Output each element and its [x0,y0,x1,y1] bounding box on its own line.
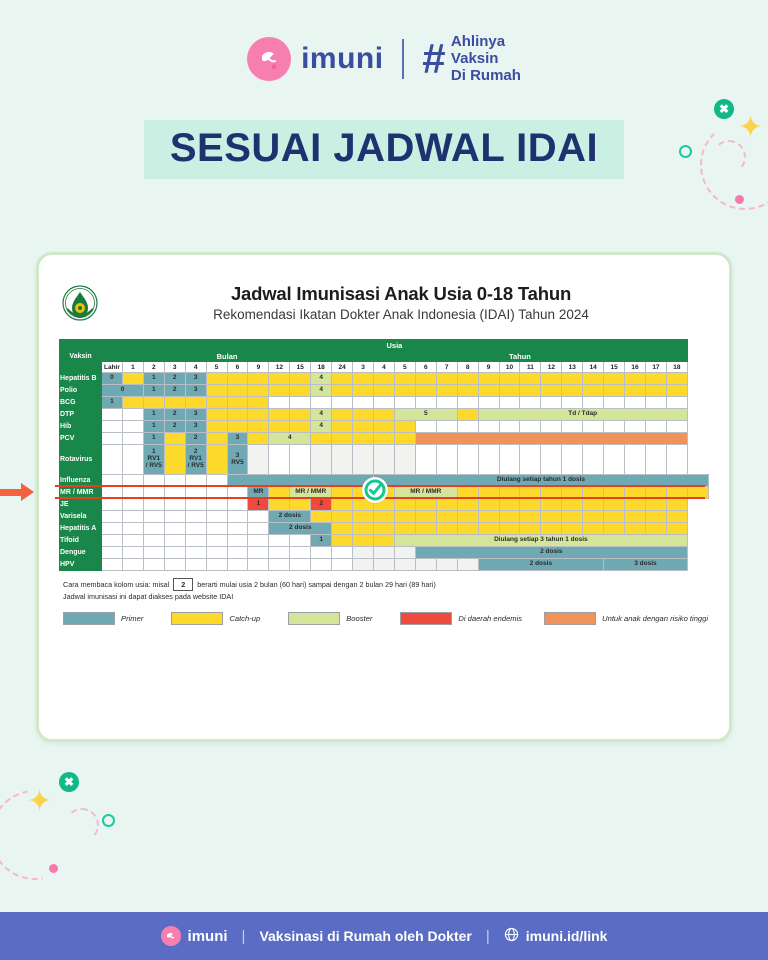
cell [520,499,541,511]
col-header-6: 6 [227,362,248,373]
cell [164,523,185,535]
cell [248,511,269,523]
legend-label: Booster [346,614,372,623]
cell [290,373,311,385]
cell [102,535,123,547]
col-header-13: 13 [562,362,583,373]
cell [645,523,666,535]
col-header-8: 8 [457,362,478,373]
cell [394,445,415,475]
cell: 2 dosis [269,511,311,523]
decor-x-circle-top: ✖ [714,99,734,119]
cell [457,499,478,511]
cell [645,499,666,511]
cell [562,373,583,385]
cell [604,397,625,409]
cell [394,559,415,571]
cell [625,397,646,409]
cell: 0 [102,385,144,397]
cell [415,421,436,433]
cell: 3 dosis [604,559,688,571]
note-line-1: Cara membaca kolom usia: misal 2 berarti… [63,578,713,591]
cell [332,445,353,475]
cell [625,511,646,523]
hashtag-icon: # [422,40,445,78]
cell [394,499,415,511]
footer-text: Vaksinasi di Rumah oleh Dokter [259,928,471,944]
cell [436,559,457,571]
decor-sparkle-bottom: ✦ [27,787,52,817]
cell: 1 [143,373,164,385]
table-row: Rotavirus1RV1/ RV52RV1/ RV53RV5 [60,445,709,475]
cell [290,535,311,547]
schedule-title: Jadwal Imunisasi Anak Usia 0-18 Tahun [89,283,713,305]
cell [122,409,143,421]
cell: Diulang setiap 3 tahun 1 dosis [394,535,687,547]
cell [478,397,499,409]
col-header-24: 24 [332,362,353,373]
cell [457,385,478,397]
cell [332,547,353,559]
table-notes: Cara membaca kolom usia: misal 2 berarti… [63,578,713,602]
cell: Td / Tdap [478,409,687,421]
table-row: HPV2 dosis3 dosis [60,559,709,571]
cell: 2 [164,409,185,421]
cell [185,535,206,547]
cell [457,373,478,385]
legend-label: Di daerah endemis [458,614,522,623]
col-header-5: 5 [206,362,227,373]
cell [666,511,687,523]
table-header-row-period: BulanTahun [60,351,709,362]
table-row: Hepatitis A2 dosis [60,523,709,535]
cell [206,445,227,475]
green-check-badge [362,477,388,503]
cell [625,373,646,385]
table-header-row-cols: Lahir12345691215182434567891011121314151… [60,362,709,373]
cell [311,511,332,523]
cell [227,373,248,385]
cell [583,499,604,511]
table-row: Dengue2 dosis [60,547,709,559]
cell [457,523,478,535]
cell [290,445,311,475]
cell [227,421,248,433]
cell [353,397,374,409]
cell [185,559,206,571]
cell [332,511,353,523]
cell [185,511,206,523]
cell [353,421,374,433]
cell [122,511,143,523]
cell [269,409,290,421]
col-header-17: 17 [645,362,666,373]
legend-swatch [400,612,452,625]
cell: 2 [164,385,185,397]
vaccine-label-pcv: PCV [60,433,102,445]
schedule-table-wrap: VaksinUsiaBulanTahunLahir123456912151824… [55,339,713,571]
vaccine-label-polio: Polio [60,385,102,397]
cell [666,499,687,511]
cell [122,499,143,511]
cell [269,397,290,409]
footer-brand-name: imuni [188,928,228,945]
cell [122,397,143,409]
cell [248,445,269,475]
cell [269,559,290,571]
cell [227,511,248,523]
cell [541,523,562,535]
cell [436,421,457,433]
cell: 1 [143,385,164,397]
cell [122,373,143,385]
cell [541,373,562,385]
cell [143,511,164,523]
cell [353,559,374,571]
cell [373,445,394,475]
note-1-box: 2 [173,578,193,591]
cell: 3 [227,433,248,445]
cell [102,409,123,421]
legend-swatch [544,612,596,625]
cell [583,523,604,535]
vaccine-label-varisela: Varisela [60,511,102,523]
cell [373,559,394,571]
cell [645,445,666,475]
cell [102,421,123,433]
cell [666,445,687,475]
schedule-header: Jadwal Imunisasi Anak Usia 0-18 Tahun Re… [55,269,713,333]
cell [164,445,185,475]
cell [562,445,583,475]
cell [227,523,248,535]
cell [562,385,583,397]
table-row: Tifoid1Diulang setiap 3 tahun 1 dosis [60,535,709,547]
cell [415,433,687,445]
cell [541,445,562,475]
cell [373,523,394,535]
cell: 1 [311,535,332,547]
cell [394,373,415,385]
cell [206,373,227,385]
cell [311,433,332,445]
cell [666,385,687,397]
header-brandbar: imuni # Ahlinya Vaksin Di Rumah [0,0,768,84]
cell: 3 [185,421,206,433]
decor-ring-bottom [102,814,115,827]
legend-item: Di daerah endemis [400,612,522,625]
vaccine-label-tifoid: Tifoid [60,535,102,547]
col-header-7: 7 [436,362,457,373]
tagline-text: Ahlinya Vaksin Di Rumah [451,34,521,84]
cell [645,373,666,385]
cell [373,511,394,523]
cell [227,385,248,397]
cell [164,535,185,547]
cell [457,397,478,409]
cell [332,421,353,433]
cell: 1 [143,409,164,421]
cell [436,373,457,385]
decor-dot-bottom [49,864,58,873]
legend-label: Primer [121,614,143,623]
col-header-18: 18 [666,362,687,373]
cell [645,385,666,397]
col-header-16: 16 [625,362,646,373]
cell [332,523,353,535]
cell [206,535,227,547]
cell [625,523,646,535]
cell [248,385,269,397]
cell [102,445,123,475]
cell [373,433,394,445]
col-header-6: 6 [415,362,436,373]
cell [625,445,646,475]
cell [290,499,311,511]
cell [164,511,185,523]
cell [185,523,206,535]
cell: 1RV1/ RV5 [143,445,164,475]
cell [645,397,666,409]
cell [478,511,499,523]
cell [102,559,123,571]
imuni-brand: imuni [247,37,384,81]
page-title: SESUAI JADWAL IDAI [170,126,598,170]
cell [353,433,374,445]
footer-link[interactable]: imuni.id/link [504,927,608,945]
cell [604,445,625,475]
cell: 1 [102,397,123,409]
cell [206,385,227,397]
col-header-1: 1 [122,362,143,373]
legend-item: Untuk anak dengan risiko tinggi [544,612,708,625]
table-row: Hib1234 [60,421,709,433]
cell [143,499,164,511]
cell [248,523,269,535]
cell [583,421,604,433]
cell [206,547,227,559]
note-1a: Cara membaca kolom usia: misal [63,580,169,589]
cell [541,397,562,409]
cell [457,511,478,523]
cell [269,499,290,511]
cell [164,433,185,445]
decor-dashed-arc-bottom [0,772,98,897]
cell: 2 dosis [269,523,332,535]
cell [102,499,123,511]
cell [520,511,541,523]
cell [143,559,164,571]
cell [332,433,353,445]
col-header-usia: Usia [102,340,688,351]
cell [122,421,143,433]
cell [415,397,436,409]
cell [353,511,374,523]
brand-name: imuni [301,42,384,76]
cell [143,523,164,535]
vaccine-label-rotavirus: Rotavirus [60,445,102,475]
col-header-lahir: Lahir [102,362,123,373]
cell [164,397,185,409]
cell [143,397,164,409]
legend-swatch [63,612,115,625]
cell [143,535,164,547]
legend-item: Primer [63,612,143,625]
cell [373,535,394,547]
cell [290,397,311,409]
footer-brand: imuni [161,926,228,946]
cell [457,421,478,433]
cell [206,511,227,523]
decor-dashed-arc-small-bottom [65,808,99,842]
cell [625,385,646,397]
cell [604,523,625,535]
cell [666,397,687,409]
cell [353,445,374,475]
cell [562,499,583,511]
header-divider [402,39,404,79]
col-header-2: 2 [143,362,164,373]
cell [164,499,185,511]
cell [645,511,666,523]
cell [269,547,290,559]
cell [604,385,625,397]
cell: 0 [102,373,123,385]
cell [102,523,123,535]
cell [394,547,415,559]
legend-swatch [288,612,340,625]
footer-sep-1: | [242,928,246,945]
decor-x-circle-bottom: ✖ [59,772,79,792]
tagline-line-3: Di Rumah [451,68,521,85]
note-line-2: Jadwal imunisasi ini dapat diakses pada … [63,591,713,602]
cell [415,445,436,475]
cell [227,535,248,547]
schedule-subtitle: Rekomendasi Ikatan Dokter Anak Indonesia… [89,307,713,322]
table-row: Varisela2 dosis [60,511,709,523]
cell [353,547,374,559]
cell [478,373,499,385]
cell [562,511,583,523]
schedule-card: DOKTER ANAK Jadwal Imunisasi Anak Usia 0… [36,252,732,742]
cell [206,433,227,445]
header-tagline: # Ahlinya Vaksin Di Rumah [422,34,521,84]
globe-icon [504,927,519,945]
cell [353,523,374,535]
cell: 2 [185,433,206,445]
cell [122,547,143,559]
table-row: BCG1 [60,397,709,409]
cell [457,409,478,421]
bird-drop-icon [247,37,291,81]
col-header-12: 12 [269,362,290,373]
cell [227,499,248,511]
cell [311,445,332,475]
cell [290,547,311,559]
cell [583,397,604,409]
cell [415,559,436,571]
cell [206,397,227,409]
cell [499,445,520,475]
cell: 3 [185,373,206,385]
cell [666,373,687,385]
cell [373,421,394,433]
col-header-11: 11 [520,362,541,373]
cell [290,409,311,421]
cell [143,547,164,559]
cell [248,535,269,547]
cell [102,511,123,523]
cell: 2 [164,373,185,385]
cell [269,421,290,433]
cell [394,421,415,433]
cell [353,409,374,421]
table-row: PCV1234 [60,433,709,445]
footer-bird-icon [161,926,181,946]
cell [248,421,269,433]
col-header-4: 4 [185,362,206,373]
cell [248,547,269,559]
cell [604,499,625,511]
cell [206,421,227,433]
cell: 1 [143,421,164,433]
col-header-14: 14 [583,362,604,373]
cell [520,421,541,433]
cell [332,409,353,421]
cell [269,385,290,397]
table-row: Hepatitis B01234 [60,373,709,385]
vaccine-label-dtp: DTP [60,409,102,421]
vaccine-label-hpv: HPV [60,559,102,571]
cell: 3 [185,385,206,397]
cell [562,421,583,433]
cell [227,409,248,421]
cell [436,499,457,511]
cell [185,499,206,511]
cell [373,547,394,559]
cell [415,385,436,397]
col-header-10: 10 [499,362,520,373]
footer-sep-2: | [486,928,490,945]
cell [415,499,436,511]
cell [436,385,457,397]
cell [290,421,311,433]
col-header-18: 18 [311,362,332,373]
cell [583,373,604,385]
cell [625,499,646,511]
vaccine-label-bcg: BCG [60,397,102,409]
cell [164,547,185,559]
cell [373,397,394,409]
cell [394,523,415,535]
cell [520,385,541,397]
cell [666,523,687,535]
cell [227,397,248,409]
cell: 1 [143,433,164,445]
cell [122,445,143,475]
cell [290,385,311,397]
cell [248,409,269,421]
decor-dot-top [735,195,744,204]
tagline-line-1: Ahlinya [451,34,521,51]
cell: 2 [164,421,185,433]
cell [248,397,269,409]
cell [478,445,499,475]
cell [394,511,415,523]
cell [311,559,332,571]
cell [415,373,436,385]
cell [499,511,520,523]
